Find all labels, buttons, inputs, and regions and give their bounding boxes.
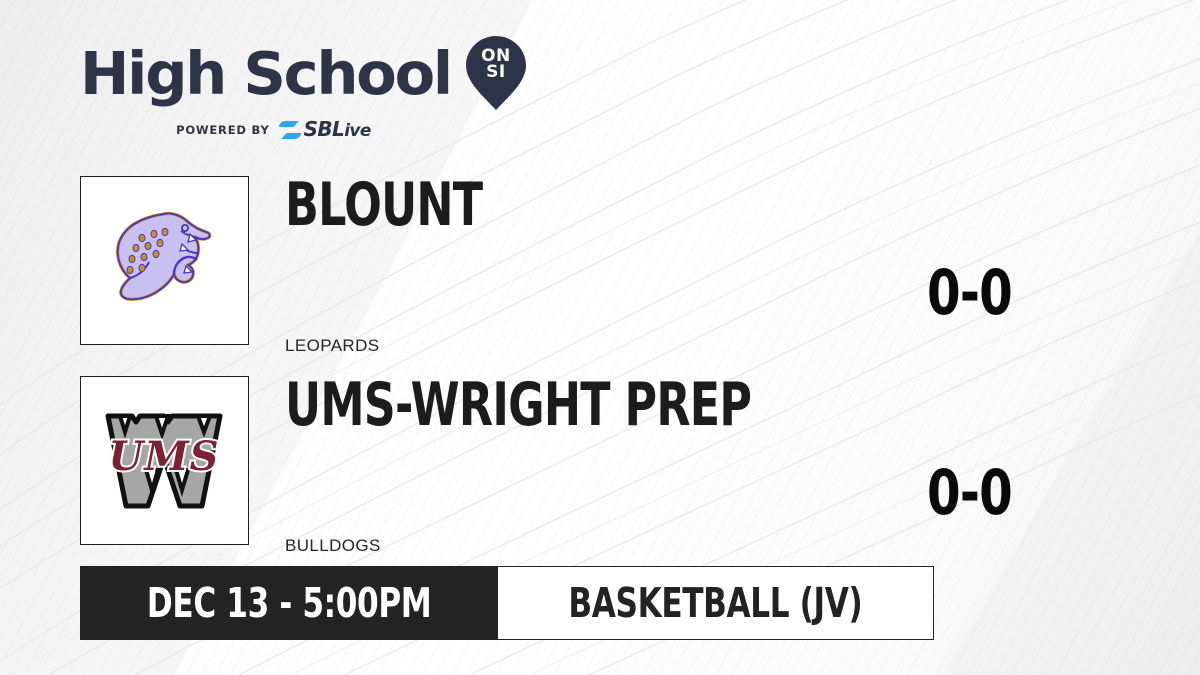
game-datetime-text: DEC 13 - 5:00PM bbox=[147, 583, 432, 624]
pin-label-line2: SI bbox=[465, 64, 527, 80]
matchup-graphic: High School ON SI POWERED BY SBLive bbox=[0, 0, 1200, 675]
powered-by-row: POWERED BY SBLive bbox=[80, 119, 527, 140]
game-info-bar: DEC 13 - 5:00PM BASKETBALL (JV) bbox=[80, 566, 934, 640]
team-2-mascot: BULLDOGS bbox=[285, 536, 381, 556]
brand-lockup: High School ON SI POWERED BY SBLive bbox=[80, 36, 527, 140]
sblive-wordmark: SBLive bbox=[304, 119, 371, 140]
map-pin-icon: ON SI bbox=[465, 36, 527, 110]
team-1-logo-card bbox=[80, 176, 249, 345]
sblive-word-main: SBL bbox=[304, 117, 345, 141]
team-2-name: UMS-WRIGHT PREP bbox=[285, 375, 751, 435]
game-sport-text: BASKETBALL (JV) bbox=[569, 583, 863, 624]
team-2-record: 0-0 bbox=[870, 462, 1070, 524]
team-2-record-value: 0-0 bbox=[927, 462, 1012, 524]
pin-label: ON SI bbox=[465, 48, 527, 80]
powered-by-label: POWERED BY bbox=[176, 123, 269, 137]
ums-wright-w-logo: UMS bbox=[102, 398, 228, 524]
game-sport-segment: BASKETBALL (JV) bbox=[498, 566, 934, 640]
sblive-logo: SBLive bbox=[279, 119, 371, 140]
team-1-record-value: 0-0 bbox=[927, 262, 1012, 324]
blount-leopard-head-logo bbox=[106, 202, 224, 320]
brand-row: High School ON SI bbox=[80, 36, 527, 110]
game-datetime-segment: DEC 13 - 5:00PM bbox=[80, 566, 498, 640]
brand-wordmark: High School bbox=[80, 44, 451, 103]
sblive-s-mark-icon bbox=[279, 120, 301, 140]
team-2-logo-card: UMS bbox=[80, 376, 249, 545]
team-1-record: 0-0 bbox=[870, 262, 1070, 324]
svg-text:UMS: UMS bbox=[108, 433, 219, 480]
team-1-mascot: LEOPARDS bbox=[285, 336, 380, 356]
team-1-name: BLOUNT bbox=[285, 175, 482, 235]
sblive-word-tail: ive bbox=[344, 121, 371, 141]
